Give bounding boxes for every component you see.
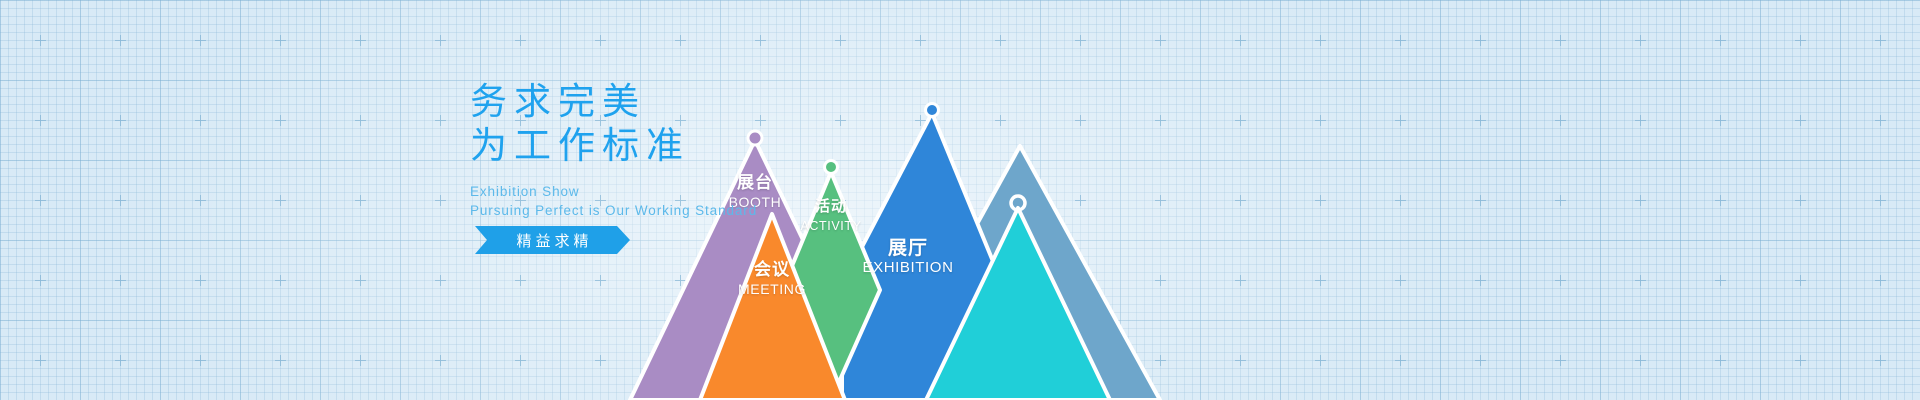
marker-dot-exhibition bbox=[926, 104, 939, 117]
mountain-illustration bbox=[0, 0, 1920, 400]
subtitle-line-2: Pursuing Perfect is Our Working Standard bbox=[470, 201, 890, 220]
promo-banner: 展台 BOOTH 会议 MEETING 活动 ACTIVITY 展厅 EXHIB… bbox=[0, 0, 1920, 400]
subtitle-line-1: Exhibition Show bbox=[470, 182, 890, 201]
headline: 务求完美 为工作标准 bbox=[470, 80, 890, 168]
cta-ribbon-button[interactable]: 精益求精 bbox=[475, 226, 630, 254]
headline-line-2: 为工作标准 bbox=[470, 124, 890, 168]
subtitle-block: Exhibition Show Pursuing Perfect is Our … bbox=[470, 182, 890, 220]
headline-line-1: 务求完美 bbox=[470, 81, 646, 122]
headline-block: 务求完美 为工作标准 Exhibition Show Pursuing Perf… bbox=[470, 80, 890, 220]
cta-ribbon-label: 精益求精 bbox=[516, 230, 592, 251]
